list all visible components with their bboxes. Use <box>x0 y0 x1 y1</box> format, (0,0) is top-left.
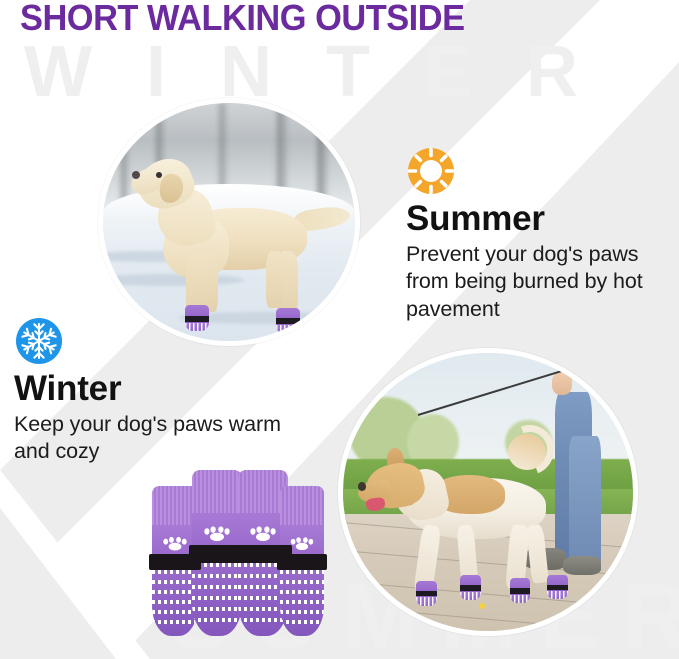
dog-leg <box>266 251 284 308</box>
person-leg <box>569 436 601 569</box>
page-title: SHORT WALKING OUTSIDE <box>20 0 465 37</box>
dog-sock <box>547 575 567 599</box>
product-sock <box>280 486 324 636</box>
feature-description: Keep your dog's paws warm and cozy <box>14 411 284 466</box>
feature-title: Winter <box>14 369 284 408</box>
person-hand <box>552 372 572 394</box>
summer-photo <box>338 348 638 636</box>
dog-nose <box>132 171 140 179</box>
dog-nose <box>358 482 366 490</box>
person-shoe <box>563 556 601 575</box>
watermark-winter: WINTER <box>24 36 632 108</box>
winter-photo <box>98 98 360 346</box>
snowflake-icon <box>14 316 64 366</box>
dog-sock <box>460 575 480 600</box>
feature-winter: Winter Keep your dog's paws warm and coz… <box>14 316 284 466</box>
feature-summer: Summer Prevent your dog's paws from bein… <box>406 146 674 323</box>
dog-sock <box>416 581 438 606</box>
feature-description: Prevent your dog's paws from being burne… <box>406 241 674 323</box>
product-dog-socks <box>152 462 324 636</box>
feature-title: Summer <box>406 199 674 238</box>
dog-sock <box>510 578 530 603</box>
dog-tail <box>508 434 546 470</box>
infographic-canvas: WINTER SUMMER SHORT WALKING OUTSIDE <box>0 0 679 659</box>
sun-icon <box>406 146 456 196</box>
